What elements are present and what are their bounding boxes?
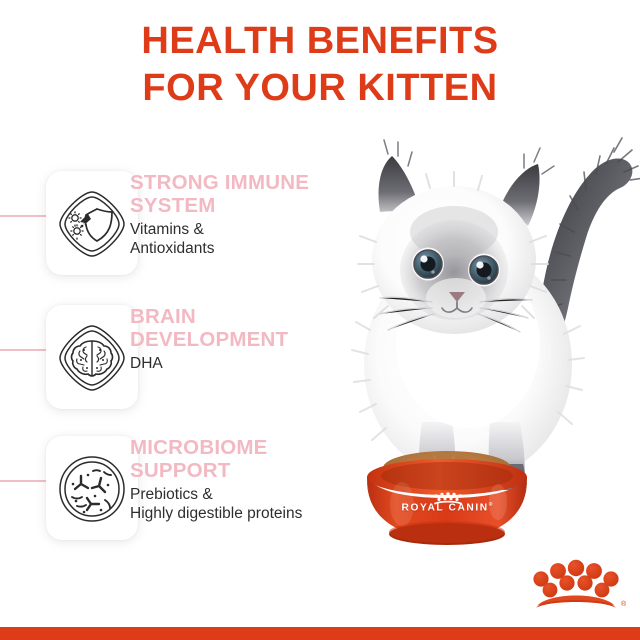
shield-germs-icon	[57, 189, 127, 259]
benefits-list: STRONG IMMUNE SYSTEM Vitamins & Antioxid…	[0, 0, 340, 640]
connector-line	[0, 349, 48, 351]
poster-canvas: HEALTH BENEFITS FOR YOUR KITTEN	[0, 0, 640, 640]
benefit-item-brain-development: BRAIN DEVELOPMENT DHA	[0, 297, 340, 417]
benefit-heading: STRONG IMMUNE SYSTEM	[130, 171, 360, 217]
connector-line	[0, 215, 48, 217]
bowl-brand-reg: ®	[489, 502, 493, 508]
food-bowl: ROYAL CANIN®	[352, 446, 542, 550]
registered-mark: ®	[621, 600, 627, 608]
benefit-heading: BRAIN DEVELOPMENT	[130, 305, 360, 351]
brain-icon	[57, 323, 127, 393]
bowl-brand-label: ROYAL CANIN	[402, 502, 489, 513]
benefit-text: MICROBIOME SUPPORT Prebiotics & Highly d…	[130, 436, 360, 523]
benefit-text: BRAIN DEVELOPMENT DHA	[130, 305, 360, 373]
connector-line	[0, 480, 48, 482]
benefit-subtext: Vitamins & Antioxidants	[130, 220, 360, 258]
microbiome-icon	[57, 454, 127, 524]
benefit-subtext: Prebiotics & Highly digestible proteins	[130, 485, 360, 523]
benefit-text: STRONG IMMUNE SYSTEM Vitamins & Antioxid…	[130, 171, 360, 258]
benefit-heading: MICROBIOME SUPPORT	[130, 436, 360, 482]
benefit-item-microbiome-support: MICROBIOME SUPPORT Prebiotics & Highly d…	[0, 428, 340, 548]
benefit-subtext: DHA	[130, 354, 360, 373]
bottom-accent-bar	[0, 627, 640, 640]
bowl-brand-text: ROYAL CANIN®	[352, 502, 542, 513]
royal-canin-crown-logo: ®	[524, 556, 628, 618]
benefit-item-strong-immune-system: STRONG IMMUNE SYSTEM Vitamins & Antioxid…	[0, 163, 340, 283]
